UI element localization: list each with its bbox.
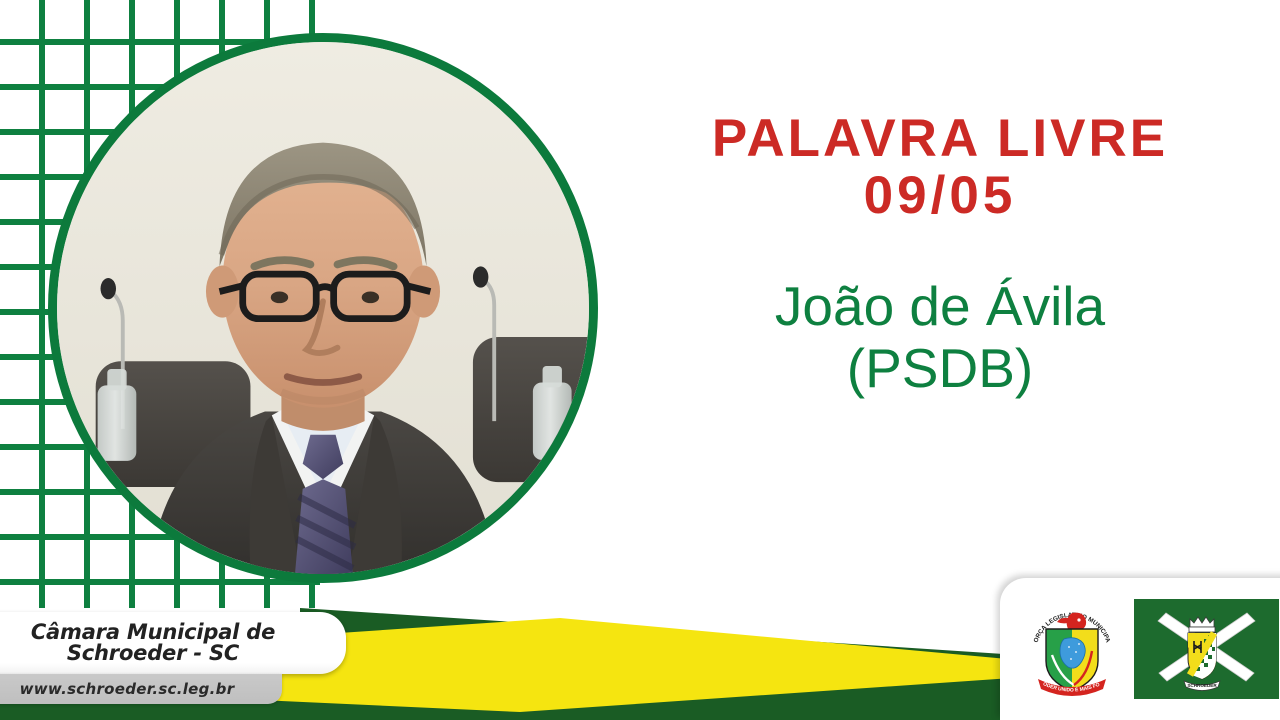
speaker-block: João de Ávila (PSDB) — [620, 276, 1260, 399]
council-coat-of-arms-logo: FORÇA LEGISLATIVO MUNICIPAL O PODER UNID… — [1024, 597, 1120, 701]
institution-name: Câmara Municipal de Schroeder - SC — [31, 622, 301, 665]
headline-line-1: PALAVRA LIVRE — [712, 109, 1168, 168]
speaker-name: João de Ávila — [775, 275, 1105, 337]
speaker-party: (PSDB) — [620, 338, 1260, 400]
website-url: www.schroeder.sc.leg.br — [20, 680, 249, 698]
headline: PALAVRA LIVRE 09/05 — [620, 110, 1260, 224]
speaker-portrait — [48, 33, 598, 583]
portrait-illustration — [57, 42, 589, 574]
svg-text:SCHROEDER: SCHROEDER — [1187, 683, 1217, 688]
logo-panel: FORÇA LEGISLATIVO MUNICIPAL O PODER UNID… — [1000, 578, 1280, 720]
text-column: PALAVRA LIVRE 09/05 João de Ávila (PSDB) — [620, 110, 1260, 400]
institution-line-2: Schroeder - SC — [31, 643, 275, 664]
schroeder-municipal-flag: SCHROEDER — [1134, 599, 1279, 699]
headline-line-2: 09/05 — [620, 167, 1260, 224]
institution-line-1: Câmara Municipal de — [31, 622, 275, 643]
institution-banner: Câmara Municipal de Schroeder - SC — [0, 612, 346, 674]
website-bar[interactable]: www.schroeder.sc.leg.br — [0, 674, 282, 704]
slide-canvas: PALAVRA LIVRE 09/05 João de Ávila (PSDB)… — [0, 0, 1280, 720]
